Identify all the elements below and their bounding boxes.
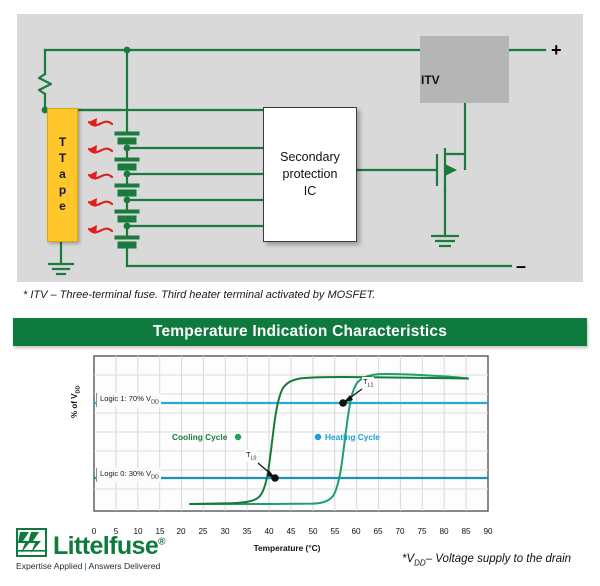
circuit-diagram-panel: ITV T T a p e Secondary protection IC + … bbox=[17, 14, 583, 282]
xtick-35: 35 bbox=[238, 527, 256, 536]
xtick-55: 55 bbox=[326, 527, 344, 536]
logic1-threshold-label: Logic 1: 70% VDD bbox=[96, 393, 161, 407]
t-l0-marker-label: TL0 bbox=[245, 450, 257, 462]
xtick-20: 20 bbox=[172, 527, 190, 536]
vdd-footnote: *VDD– Voltage supply to the drain bbox=[402, 553, 571, 567]
heating-cycle-legend-label: Heating Cycle bbox=[325, 432, 380, 442]
ttape-char-0: T bbox=[59, 135, 66, 151]
heating-cycle-legend-dot bbox=[315, 434, 321, 440]
circuit-footnote: * ITV – Three-terminal fuse. Third heate… bbox=[23, 289, 493, 301]
cooling-cycle-legend-dot bbox=[235, 434, 241, 440]
t-l1-marker-label: TL1 bbox=[362, 377, 374, 389]
itv-block-background bbox=[420, 36, 509, 103]
logic0-threshold-label: Logic 0: 30% VDD bbox=[96, 468, 161, 482]
xtick-40: 40 bbox=[260, 527, 278, 536]
chart-y-axis-title: % of VDD bbox=[70, 385, 82, 418]
xtick-50: 50 bbox=[304, 527, 322, 536]
ic-label-line2: protection bbox=[280, 166, 340, 183]
xtick-70: 70 bbox=[391, 527, 409, 536]
xtick-65: 65 bbox=[369, 527, 387, 536]
xtick-30: 30 bbox=[216, 527, 234, 536]
positive-terminal-label: + bbox=[551, 41, 562, 59]
negative-terminal-label: – bbox=[516, 257, 526, 275]
xtick-90: 90 bbox=[479, 527, 497, 536]
tagline-left: Expertise Applied bbox=[16, 561, 82, 571]
xtick-45: 45 bbox=[282, 527, 300, 536]
littelfuse-logo-icon bbox=[16, 528, 47, 557]
xtick-75: 75 bbox=[413, 527, 431, 536]
xtick-80: 80 bbox=[435, 527, 453, 536]
littelfuse-tagline: Expertise Applied|Answers Delivered bbox=[16, 561, 165, 571]
ic-label-line3: IC bbox=[280, 183, 340, 200]
cooling-cycle-legend-label: Cooling Cycle bbox=[172, 432, 227, 442]
ttape-block: T T a p e bbox=[47, 108, 78, 242]
itv-label: ITV bbox=[421, 73, 440, 87]
littelfuse-wordmark-text: Littelfuse bbox=[53, 532, 158, 560]
littelfuse-logo-block: Littelfuse® Expertise Applied|Answers De… bbox=[16, 528, 165, 571]
xtick-60: 60 bbox=[347, 527, 365, 536]
secondary-protection-ic-box: Secondary protection IC bbox=[263, 107, 357, 242]
ttape-char-2: a bbox=[59, 167, 66, 183]
xtick-25: 25 bbox=[194, 527, 212, 536]
ic-label-line1: Secondary bbox=[280, 149, 340, 166]
chart-svg bbox=[13, 350, 587, 540]
chart-title: Temperature Indication Characteristics bbox=[153, 323, 447, 341]
lightning-bolt-icon bbox=[18, 530, 45, 555]
littelfuse-wordmark: Littelfuse® bbox=[53, 535, 165, 557]
chart-plot-area: Logic 1: 70% VDD Logic 0: 30% VDD Coolin… bbox=[13, 350, 587, 540]
ttape-char-4: e bbox=[59, 199, 66, 215]
registered-trademark-icon: ® bbox=[158, 537, 165, 548]
tagline-right: Answers Delivered bbox=[89, 561, 161, 571]
xtick-85: 85 bbox=[457, 527, 475, 536]
chart-title-bar: Temperature Indication Characteristics bbox=[13, 318, 587, 346]
ttape-char-3: p bbox=[59, 183, 66, 199]
ttape-char-1: T bbox=[59, 151, 66, 167]
